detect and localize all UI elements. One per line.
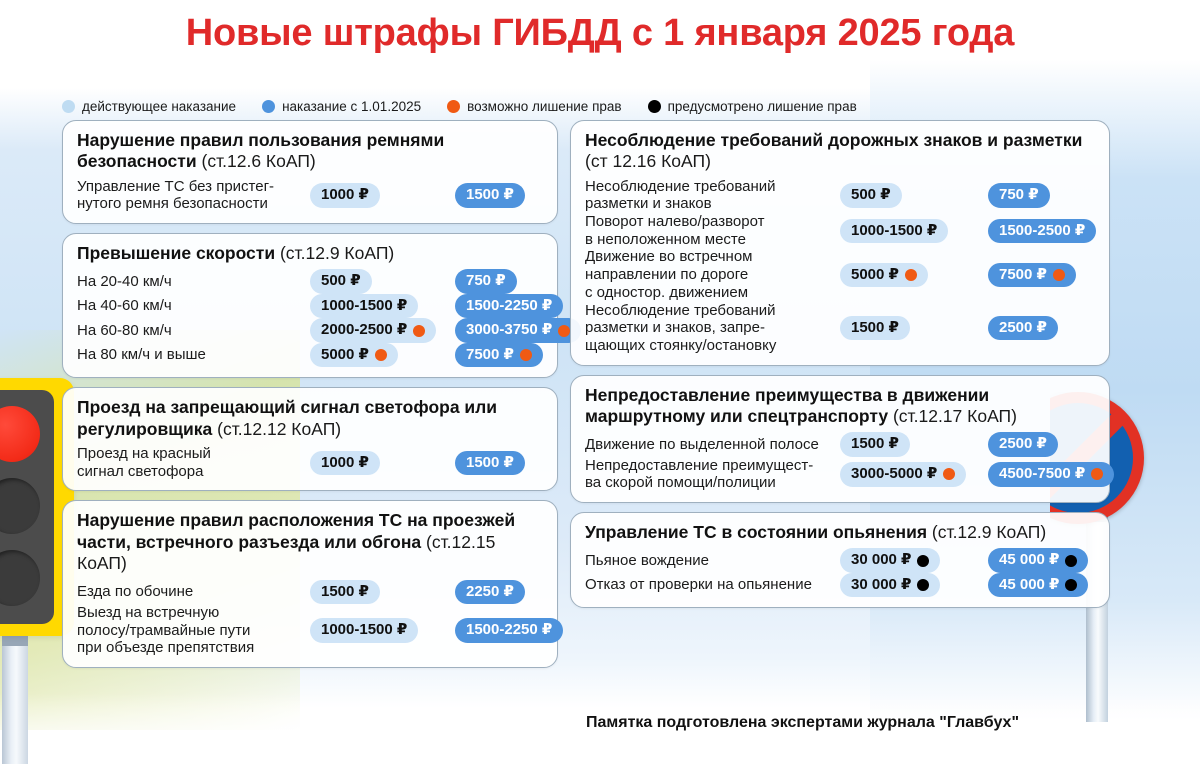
fine-amount: 1500-2250 ₽ [466,298,552,315]
fine-card-title: Превышение скорости (ст.12.9 КоАП) [77,243,543,264]
fine-current-cell: 1500 ₽ [310,580,455,605]
fine-current-cell: 3000-5000 ₽ [840,462,988,487]
fine-card: Нарушение правил пользования ремнями без… [62,120,558,224]
fine-new-cell: 3000-3750 ₽ [455,318,581,343]
fine-row: Пьяное вождение30 000 ₽45 000 ₽ [585,548,1095,573]
black-dot [648,100,661,113]
fine-current-cell: 1500 ₽ [840,316,988,341]
revocation-dot-icon [1065,555,1077,567]
fine-badge-current: 30 000 ₽ [840,573,940,598]
fine-row: Движение по выделенной полосе1500 ₽2500 … [585,432,1095,457]
fine-current-cell: 1000-1500 ₽ [840,219,988,244]
fine-current-cell: 1000-1500 ₽ [310,294,455,319]
fine-badge-current: 30 000 ₽ [840,548,940,573]
fine-amount: 2250 ₽ [466,584,514,601]
fine-amount: 2000-2500 ₽ [321,322,407,339]
fine-row-label: Выезд на встречную полосу/трамвайные пут… [77,604,310,657]
possible-revocation-dot-icon [558,325,570,337]
fine-badge-current: 500 ₽ [310,269,372,294]
light-blue-dot [62,100,75,113]
fine-card-article-reference: (ст.12.17 КоАП) [893,406,1017,426]
fine-card-title-main: Превышение скорости [77,243,275,263]
fine-current-cell: 5000 ₽ [310,343,455,368]
page-title: Новые штрафы ГИБДД с 1 января 2025 года [0,12,1200,55]
fine-new-cell: 1500 ₽ [455,183,543,208]
fine-card: Управление ТС в состоянии опьянения (ст.… [570,512,1110,608]
fine-badge-new: 45 000 ₽ [988,573,1088,598]
fine-row-label: Управление ТС без пристег- нутого ремня … [77,178,310,213]
fine-card: Несоблюдение требований дорожных знаков … [570,120,1110,366]
fine-card-article-reference: (ст.12.9 КоАП) [280,243,394,263]
fine-row-label: Поворот налево/разворот в неположенном м… [585,213,840,248]
fine-card: Проезд на запрещающий сигнал светофора и… [62,387,558,491]
fine-row-label: На 80 км/ч и выше [77,346,310,364]
fine-row: Поворот налево/разворот в неположенном м… [585,213,1095,248]
fine-badge-new: 2250 ₽ [455,580,525,605]
fine-row: Отказ от проверки на опьянение30 000 ₽45… [585,573,1095,598]
possible-revocation-dot-icon [943,468,955,480]
fine-badge-new: 1500-2250 ₽ [455,294,563,319]
possible-revocation-dot-icon [905,269,917,281]
fine-badge-new: 1500-2250 ₽ [455,618,563,643]
fine-badge-new: 2500 ₽ [988,316,1058,341]
legend-item: наказание с 1.01.2025 [262,99,421,114]
fine-current-cell: 5000 ₽ [840,263,988,288]
fine-amount: 2500 ₽ [999,436,1047,453]
fine-amount: 4500-7500 ₽ [999,466,1085,483]
fine-amount: 30 000 ₽ [851,552,911,569]
fine-badge-current: 5000 ₽ [840,263,928,288]
fine-row: На 60-80 км/ч2000-2500 ₽3000-3750 ₽ [77,318,543,343]
fine-amount: 1000 ₽ [321,455,369,472]
fine-current-cell: 2000-2500 ₽ [310,318,455,343]
fine-amount: 500 ₽ [321,273,361,290]
fine-row-label: Несоблюдение требований разметки и знако… [585,178,840,213]
fine-row: На 40-60 км/ч1000-1500 ₽1500-2250 ₽ [77,294,543,319]
blue-dot [262,100,275,113]
fine-new-cell: 1500-2500 ₽ [988,219,1096,244]
possible-revocation-dot-icon [1053,269,1065,281]
fine-amount: 1000-1500 ₽ [851,223,937,240]
fine-card-article-reference: (ст.12.9 КоАП) [932,522,1046,542]
fine-badge-current: 1500 ₽ [840,432,910,457]
fine-amount: 750 ₽ [466,273,506,290]
fine-badge-current: 1000 ₽ [310,451,380,476]
fine-new-cell: 45 000 ₽ [988,548,1095,573]
possible-revocation-dot-icon [520,349,532,361]
fine-card: Превышение скорости (ст.12.9 КоАП)На 20-… [62,233,558,378]
fine-card-title: Непредоставление преимущества в движении… [585,385,1095,428]
infographic-page: Новые штрафы ГИБДД с 1 января 2025 года … [0,0,1200,783]
footer-note: Памятка подготовлена экспертами журнала … [586,714,1019,732]
fine-amount: 5000 ₽ [851,267,899,284]
fine-row: Проезд на красный сигнал светофора1000 ₽… [77,445,543,480]
legend-item: предусмотрено лишение прав [648,99,857,114]
fine-current-cell: 1500 ₽ [840,432,988,457]
fine-badge-current: 2000-2500 ₽ [310,318,436,343]
fine-current-cell: 500 ₽ [310,269,455,294]
fine-new-cell: 2500 ₽ [988,432,1095,457]
revocation-dot-icon [917,555,929,567]
revocation-dot-icon [1065,579,1077,591]
fine-new-cell: 45 000 ₽ [988,573,1095,598]
right-column: Несоблюдение требований дорожных знаков … [570,120,1110,617]
fine-card: Нарушение правил расположения ТС на прое… [62,500,558,668]
fine-row-label: На 40-60 км/ч [77,297,310,315]
fine-new-cell: 2250 ₽ [455,580,543,605]
fine-new-cell: 7500 ₽ [988,263,1095,288]
fine-amount: 1500 ₽ [851,320,899,337]
fine-amount: 2500 ₽ [999,320,1047,337]
fine-card-title: Нарушение правил расположения ТС на прое… [77,510,543,574]
fine-badge-new: 750 ₽ [455,269,517,294]
fine-amount: 3000-3750 ₽ [466,322,552,339]
fine-amount: 7500 ₽ [466,347,514,364]
fine-current-cell: 1000-1500 ₽ [310,618,455,643]
fine-row: Непредоставление преимущест- ва скорой п… [585,457,1095,492]
fine-amount: 1000-1500 ₽ [321,298,407,315]
fine-row-label: На 60-80 км/ч [77,322,310,340]
fine-new-cell: 2500 ₽ [988,316,1095,341]
fine-badge-new: 750 ₽ [988,183,1050,208]
fine-new-cell: 7500 ₽ [455,343,543,368]
fine-row-label: Движение по выделенной полосе [585,436,840,454]
fine-amount: 1500-2500 ₽ [999,223,1085,240]
fine-card: Непредоставление преимущества в движении… [570,375,1110,504]
fine-row-label: Непредоставление преимущест- ва скорой п… [585,457,840,492]
fine-row: На 20-40 км/ч500 ₽750 ₽ [77,269,543,294]
legend-item-label: возможно лишение прав [467,99,621,114]
fine-badge-current: 1000-1500 ₽ [840,219,948,244]
fine-badge-current: 1000-1500 ₽ [310,294,418,319]
fine-row: Выезд на встречную полосу/трамвайные пут… [77,604,543,657]
fine-row-label: Пьяное вождение [585,552,840,570]
fine-new-cell: 750 ₽ [455,269,543,294]
fine-current-cell: 30 000 ₽ [840,573,988,598]
fine-badge-new: 3000-3750 ₽ [455,318,581,343]
fine-badge-current: 1000 ₽ [310,183,380,208]
fine-current-cell: 1000 ₽ [310,183,455,208]
fine-badge-current: 1500 ₽ [840,316,910,341]
fine-new-cell: 4500-7500 ₽ [988,462,1114,487]
fine-amount: 7500 ₽ [999,267,1047,284]
fine-current-cell: 30 000 ₽ [840,548,988,573]
fine-badge-new: 45 000 ₽ [988,548,1088,573]
left-column: Нарушение правил пользования ремнями без… [62,120,558,677]
fine-card-title: Проезд на запрещающий сигнал светофора и… [77,397,543,440]
fine-new-cell: 750 ₽ [988,183,1095,208]
fine-card-article-reference: (ст 12.16 КоАП) [585,151,711,171]
fine-row-label: Отказ от проверки на опьянение [585,576,840,594]
fine-row: Движение во встречном направлении по дор… [585,248,1095,301]
fine-badge-current: 1000-1500 ₽ [310,618,418,643]
legend-item-label: наказание с 1.01.2025 [282,99,421,114]
fine-new-cell: 1500 ₽ [455,451,543,476]
fine-amount: 30 000 ₽ [851,577,911,594]
fine-badge-current: 5000 ₽ [310,343,398,368]
fine-amount: 1500 ₽ [466,187,514,204]
fine-row-label: Езда по обочине [77,583,310,601]
fine-row: Несоблюдение требований разметки и знако… [585,302,1095,355]
fine-new-cell: 1500-2250 ₽ [455,294,563,319]
possible-revocation-dot-icon [375,349,387,361]
fine-current-cell: 1000 ₽ [310,451,455,476]
fine-card-title-main: Управление ТС в состоянии опьянения [585,522,927,542]
fine-badge-new: 7500 ₽ [988,263,1076,288]
possible-revocation-dot-icon [1091,468,1103,480]
fine-amount: 45 000 ₽ [999,577,1059,594]
fine-amount: 3000-5000 ₽ [851,466,937,483]
fine-row-label: На 20-40 км/ч [77,273,310,291]
fine-amount: 1500 ₽ [851,436,899,453]
fine-amount: 1000-1500 ₽ [321,622,407,639]
fine-amount: 1500 ₽ [321,584,369,601]
fine-row: Несоблюдение требований разметки и знако… [585,178,1095,213]
fine-amount: 1000 ₽ [321,187,369,204]
legend-item-label: предусмотрено лишение прав [668,99,857,114]
fine-row-label: Несоблюдение требований разметки и знако… [585,302,840,355]
fine-badge-current: 3000-5000 ₽ [840,462,966,487]
fine-card-article-reference: (ст.12.6 КоАП) [202,151,316,171]
fine-badge-new: 2500 ₽ [988,432,1058,457]
fine-card-article-reference: (ст.12.12 КоАП) [217,419,341,439]
fine-card-title: Управление ТС в состоянии опьянения (ст.… [585,522,1095,543]
fine-card-title: Нарушение правил пользования ремнями без… [77,130,543,173]
fine-card-title-main: Несоблюдение требований дорожных знаков … [585,130,1082,150]
fine-amount: 500 ₽ [851,187,891,204]
fine-amount: 1500 ₽ [466,455,514,472]
fine-badge-new: 1500 ₽ [455,183,525,208]
legend-item: возможно лишение прав [447,99,621,114]
fine-row-label: Проезд на красный сигнал светофора [77,445,310,480]
fine-badge-new: 7500 ₽ [455,343,543,368]
fine-row: На 80 км/ч и выше5000 ₽7500 ₽ [77,343,543,368]
fine-badge-new: 1500 ₽ [455,451,525,476]
fine-badge-current: 500 ₽ [840,183,902,208]
fine-row-label: Движение во встречном направлении по дор… [585,248,840,301]
fine-badge-new: 1500-2500 ₽ [988,219,1096,244]
possible-revocation-dot-icon [413,325,425,337]
fine-badge-new: 4500-7500 ₽ [988,462,1114,487]
fine-row: Езда по обочине1500 ₽2250 ₽ [77,580,543,605]
fine-card-title: Несоблюдение требований дорожных знаков … [585,130,1095,173]
fine-current-cell: 500 ₽ [840,183,988,208]
legend-item: действующее наказание [62,99,236,114]
legend-item-label: действующее наказание [82,99,236,114]
fine-amount: 1500-2250 ₽ [466,622,552,639]
orange-dot [447,100,460,113]
fine-amount: 45 000 ₽ [999,552,1059,569]
fine-new-cell: 1500-2250 ₽ [455,618,563,643]
fine-row: Управление ТС без пристег- нутого ремня … [77,178,543,213]
fine-amount: 750 ₽ [999,187,1039,204]
fine-badge-current: 1500 ₽ [310,580,380,605]
fine-amount: 5000 ₽ [321,347,369,364]
revocation-dot-icon [917,579,929,591]
legend: действующее наказаниенаказание с 1.01.20… [62,99,857,114]
